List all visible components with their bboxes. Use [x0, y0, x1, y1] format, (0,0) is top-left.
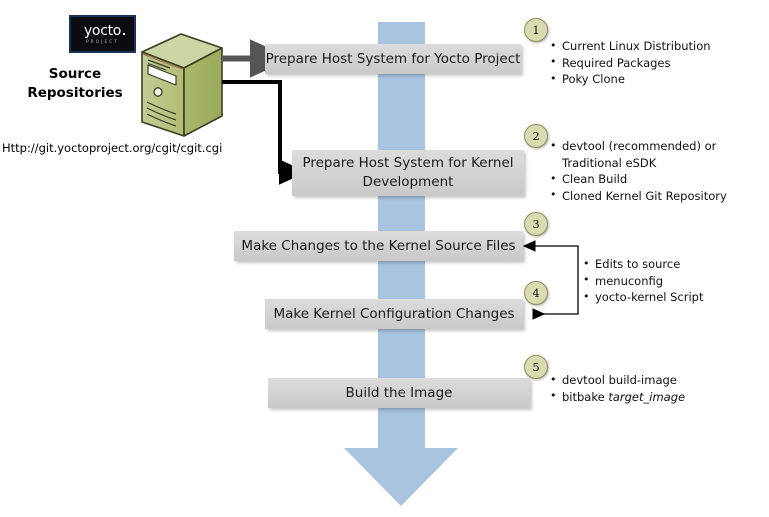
list-item: Current Linux Distribution	[550, 38, 711, 55]
list-item: Required Packages	[550, 55, 711, 72]
list-item: devtool (recommended) or	[550, 138, 727, 155]
step-number-2: 2	[524, 124, 548, 148]
process-box-5[interactable]: Build the Image	[268, 378, 530, 408]
list-item: yocto-kernel Script	[583, 289, 704, 306]
process-box-1[interactable]: Prepare Host System for Yocto Project	[265, 44, 521, 74]
list-item-continuation: Traditional eSDK	[550, 155, 727, 172]
step-number-3: 3	[524, 212, 548, 236]
step-2-bullets: devtool (recommended) or Traditional eSD…	[550, 138, 727, 204]
steps-3-4-bullets: Edits to source menuconfig yocto-kernel …	[583, 256, 704, 306]
process-box-4[interactable]: Make Kernel Configuration Changes	[265, 299, 523, 329]
italic-parameter: target_image	[608, 390, 685, 404]
process-box-2[interactable]: Prepare Host System for Kernel Developme…	[292, 150, 524, 196]
step-number-5: 5	[524, 355, 548, 379]
step-number-1: 1	[524, 18, 548, 42]
list-item: devtool build-image	[550, 372, 685, 389]
list-item: Clean Build	[550, 171, 727, 188]
list-item: Cloned Kernel Git Repository	[550, 188, 727, 205]
list-item: bitbake target_image	[550, 389, 685, 406]
list-item: menuconfig	[583, 273, 704, 290]
list-item: Edits to source	[583, 256, 704, 273]
step-5-bullets: devtool build-image bitbake target_image	[550, 372, 685, 405]
diagram-canvas: yocto PROJECT Source Repositories Http:/…	[0, 0, 769, 517]
step-number-4: 4	[524, 281, 548, 305]
list-item: Poky Clone	[550, 71, 711, 88]
process-box-3[interactable]: Make Changes to the Kernel Source Files	[234, 231, 523, 261]
step-1-bullets: Current Linux Distribution Required Pack…	[550, 38, 711, 88]
